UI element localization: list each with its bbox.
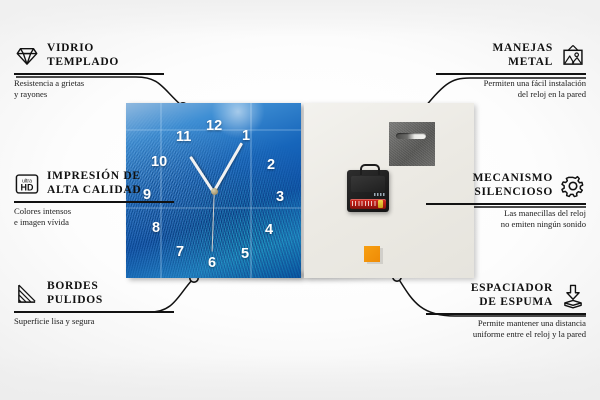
product-photo: 12 1 2 3 4 5 6 7 8 9 10 11 [126,103,474,281]
clock-numeral-4: 4 [265,223,273,238]
feature-desc-line1: Las manecillas del reloj [426,208,586,218]
feature-title-line1: ESPACIADOR [471,282,553,296]
metal-hanger [389,122,435,166]
feature-description: Colores intensos e imagen vívida [14,206,174,227]
feature-desc-line2: uniforme entre el reloj y la pared [426,329,586,339]
polished-edge-icon [14,281,40,307]
ultra-hd-icon: ultra HD [14,171,40,197]
feature-title: MANEJAS METAL [493,42,554,69]
battery [350,199,386,209]
clock-numeral-11: 11 [176,130,191,145]
mechanism-hanging-loop [360,164,380,175]
feature-desc-line1: Resistencia a grietas [14,78,164,88]
feature-title-line2: TEMPLADO [47,56,119,70]
foam-spacer [364,246,380,262]
clock-numeral-3: 3 [276,190,284,205]
feature-rule [14,311,174,313]
feature-title: MECANISMO SILENCIOSO [473,172,553,199]
hand-center-cap [211,188,218,195]
feature-header: VIDRIO TEMPLADO [14,42,164,69]
feature-desc-line2: y rayones [14,89,164,99]
diamond-icon [14,43,40,69]
feature-description: Superficie lisa y segura [14,316,174,326]
gear-icon [560,173,586,199]
feature-desc-line1: Permite mantener una distancia [426,318,586,328]
feature-header: MANEJAS METAL [436,42,586,69]
feature-title-line2: PULIDOS [47,294,103,308]
feature-vidrio-templado: VIDRIO TEMPLADO Resistencia a grietas y … [14,42,164,99]
feature-header: ultra HD IMPRESIÓN DE ALTA CALIDAD [14,170,174,197]
clock-numeral-7: 7 [176,245,184,260]
feature-title-line1: BORDES [47,280,103,294]
feature-description: Permiten una fácil instalación del reloj… [436,78,586,99]
feature-rule [426,313,586,315]
feature-title: VIDRIO TEMPLADO [47,42,119,69]
quartz-mechanism [347,170,389,212]
feature-title: IMPRESIÓN DE ALTA CALIDAD [47,170,141,197]
feature-title-line1: IMPRESIÓN DE [47,170,141,184]
feature-title-line2: SILENCIOSO [473,186,553,200]
hanger-keyhole-slot [396,133,426,139]
feature-title-line2: METAL [493,56,554,70]
clock-numeral-6: 6 [208,256,216,271]
feature-title-line1: VIDRIO [47,42,119,56]
feature-desc-line2: no emiten ningún sonido [426,219,586,229]
feature-desc-line1: Colores intensos [14,206,174,216]
feature-espaciador-espuma: ESPACIADOR DE ESPUMA Permite mantener un… [426,282,586,339]
feature-title-line1: MANEJAS [493,42,554,56]
feature-title-line2: DE ESPUMA [471,296,553,310]
feature-desc-line1: Superficie lisa y segura [14,316,174,326]
feature-mecanismo-silencioso: MECANISMO SILENCIOSO Las manecillas del … [426,172,586,229]
feature-title: ESPACIADOR DE ESPUMA [471,282,553,309]
clock-numeral-1: 1 [242,129,250,144]
infographic-canvas: 12 1 2 3 4 5 6 7 8 9 10 11 [0,0,600,400]
feature-manejas-metal: MANEJAS METAL Permiten una fácil instala… [436,42,586,99]
feature-desc-line2: e imagen vívida [14,217,174,227]
ultra-hd-icon-big-label: HD [21,182,34,192]
clock-numeral-12: 12 [206,119,222,134]
battery-label [352,201,376,206]
foam-spacer-arrow-icon [560,283,586,309]
feature-desc-line2: del reloj en la pared [436,89,586,99]
clock-numeral-2: 2 [267,158,275,173]
mechanism-body [351,176,385,192]
feature-rule [426,203,586,205]
feature-title-line2: ALTA CALIDAD [47,184,141,198]
feature-rule [436,73,586,75]
feature-header: MECANISMO SILENCIOSO [426,172,586,199]
feature-title-line1: MECANISMO [473,172,553,186]
feature-description: Las manecillas del reloj no emiten ningú… [426,208,586,229]
clock-numeral-5: 5 [241,247,249,262]
clock-numeral-10: 10 [151,155,167,170]
hanger-texture [389,122,435,166]
mechanism-contacts [374,193,385,196]
feature-impresion-alta-calidad: ultra HD IMPRESIÓN DE ALTA CALIDAD Color… [14,170,174,227]
feature-rule [14,201,174,203]
feature-header: ESPACIADOR DE ESPUMA [426,282,586,309]
feature-description: Resistencia a grietas y rayones [14,78,164,99]
feature-desc-line1: Permiten una fácil instalación [436,78,586,88]
feature-rule [14,73,164,75]
feature-description: Permite mantener una distancia uniforme … [426,318,586,339]
feature-title: BORDES PULIDOS [47,280,103,307]
battery-terminal [378,200,383,208]
feature-bordes-pulidos: BORDES PULIDOS Superficie lisa y segura [14,280,174,327]
picture-frame-hanger-icon [560,43,586,69]
feature-header: BORDES PULIDOS [14,280,174,307]
